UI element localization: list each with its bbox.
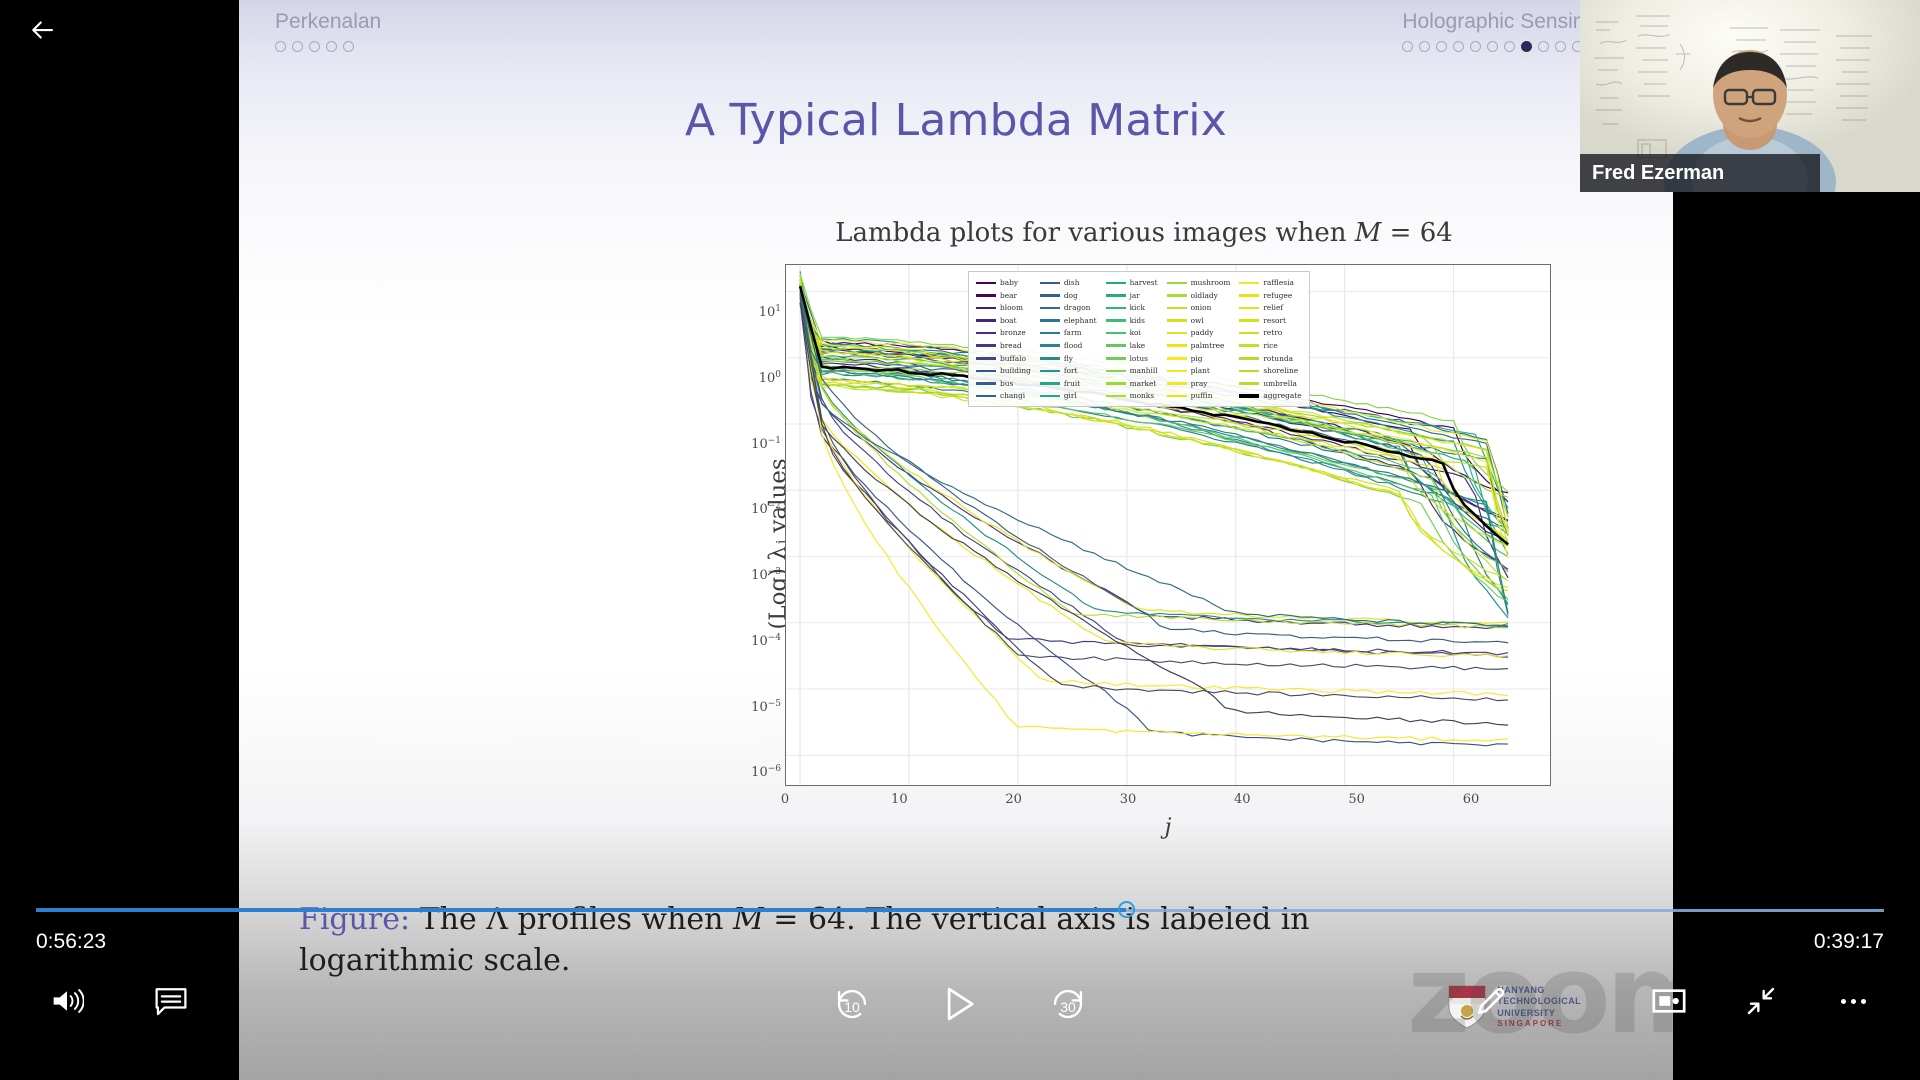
participant-name: Fred Ezerman	[1592, 162, 1724, 185]
legend-item: palmtree	[1167, 340, 1231, 352]
progress-played	[36, 908, 1126, 912]
y-tick-4: 10−3	[751, 567, 781, 583]
chart-title-math: M	[1355, 218, 1382, 248]
closed-captions-icon	[154, 986, 188, 1016]
legend-label: koi	[1130, 329, 1141, 336]
legend-column-3: harvestjarkickkidskoilakelotusmanhillmar…	[1106, 277, 1158, 402]
legend-label: oldlady	[1191, 292, 1218, 299]
legend-swatch	[1239, 319, 1259, 322]
legend-label: fly	[1064, 355, 1073, 362]
legend-label: manhill	[1130, 367, 1158, 374]
progress-scrubber-handle[interactable]	[1118, 901, 1135, 918]
legend-label: lotus	[1130, 355, 1148, 362]
legend-label: resort	[1263, 317, 1286, 324]
legend-swatch	[1106, 332, 1126, 335]
legend-column-2: dishdogdragonelephantfarmfloodflyfortfru…	[1040, 277, 1097, 402]
legend-swatch	[1167, 395, 1187, 398]
legend-label: umbrella	[1263, 380, 1297, 387]
legend-item: market	[1106, 378, 1158, 390]
legend-label: flood	[1064, 342, 1083, 349]
legend-item: fort	[1040, 365, 1097, 377]
legend-label: onion	[1191, 304, 1212, 311]
nav-dot-left-5[interactable]	[343, 41, 354, 52]
x-axis-label: j	[785, 815, 1551, 840]
annotate-button[interactable]	[1468, 978, 1514, 1024]
legend-item: koi	[1106, 327, 1158, 339]
page-title: A Typical Lambda Matrix	[239, 95, 1673, 146]
nav-dot-right-1[interactable]	[1402, 41, 1413, 52]
legend-swatch	[1167, 282, 1187, 285]
legend-item: retro	[1239, 327, 1301, 339]
legend-item: resort	[1239, 315, 1301, 327]
legend-label: lake	[1130, 342, 1146, 349]
legend-swatch	[1106, 370, 1126, 373]
chart-title: Lambda plots for various images when M =…	[729, 218, 1559, 248]
exit-fullscreen-button[interactable]	[1738, 978, 1784, 1024]
legend-label: paddy	[1191, 329, 1214, 336]
running-head-left-title: Perkenalan	[275, 10, 381, 34]
legend-swatch	[1040, 370, 1060, 373]
legend-item: changi	[976, 390, 1031, 402]
legend-label: dragon	[1064, 304, 1091, 311]
legend-swatch	[1239, 344, 1259, 347]
legend-swatch	[1040, 319, 1060, 322]
legend-item: rotunda	[1239, 353, 1301, 365]
legend-swatch	[1106, 319, 1126, 322]
legend-item: monks	[1106, 390, 1158, 402]
legend-swatch	[976, 282, 996, 285]
legend-swatch	[976, 395, 996, 398]
legend-item: baby	[976, 277, 1031, 289]
legend-swatch	[1239, 307, 1259, 310]
remaining-time: 0:39:17	[1814, 930, 1884, 954]
legend-item: pray	[1167, 378, 1231, 390]
y-tick-0: 101	[759, 304, 781, 320]
legend-item: umbrella	[1239, 378, 1301, 390]
legend-item: bread	[976, 340, 1031, 352]
legend-swatch	[1040, 344, 1060, 347]
legend-item: fly	[1040, 353, 1097, 365]
legend-item: aggregate	[1239, 390, 1301, 402]
legend-label: kids	[1130, 317, 1145, 324]
center-controls: 10 30	[823, 975, 1097, 1033]
nav-dot-right-8[interactable]	[1521, 41, 1532, 52]
legend-item: jar	[1106, 290, 1158, 302]
legend-item: puffin	[1167, 390, 1231, 402]
legend-swatch	[1040, 294, 1060, 297]
nav-dot-left-3[interactable]	[309, 41, 320, 52]
legend-swatch	[976, 344, 996, 347]
legend-swatch	[976, 382, 996, 385]
picture-in-picture-icon	[1652, 988, 1686, 1014]
nav-dot-right-2[interactable]	[1419, 41, 1430, 52]
legend-label: rafflesia	[1263, 279, 1294, 286]
legend-swatch	[1239, 394, 1259, 398]
legend-item: fruit	[1040, 378, 1097, 390]
rewind-10-button[interactable]: 10	[823, 975, 881, 1033]
figure-caption: Figure: The Λ profiles when M = 64. The …	[299, 900, 1459, 982]
legend-label: building	[1000, 367, 1031, 374]
legend-swatch	[1167, 294, 1187, 297]
y-tick-3: 10−2	[751, 501, 781, 517]
legend-item: bloom	[976, 302, 1031, 314]
legend-swatch	[1040, 282, 1060, 285]
legend-swatch	[1106, 395, 1126, 398]
legend-label: rice	[1263, 342, 1277, 349]
legend-item: boat	[976, 315, 1031, 327]
plot-area-wrapper: (Log) λⱼ values 10110010−110−210−310−410…	[729, 254, 1559, 834]
forward-seconds-label: 30	[1060, 999, 1076, 1015]
legend-label: pray	[1191, 380, 1208, 387]
legend-item: dish	[1040, 277, 1097, 289]
legend-label: plant	[1191, 367, 1210, 374]
x-tick-3: 30	[1120, 792, 1137, 807]
x-tick-1: 10	[891, 792, 908, 807]
legend-item: dog	[1040, 290, 1097, 302]
legend-item: bus	[976, 378, 1031, 390]
legend-label: girl	[1064, 392, 1077, 399]
legend-swatch	[1167, 332, 1187, 335]
legend-item: harvest	[1106, 277, 1158, 289]
legend-item: mushroom	[1167, 277, 1231, 289]
legend-item: relief	[1239, 302, 1301, 314]
legend-swatch	[1106, 282, 1126, 285]
legend-item: building	[976, 365, 1031, 377]
legend-swatch	[1040, 357, 1060, 360]
legend-swatch	[1167, 319, 1187, 322]
legend-swatch	[976, 357, 996, 360]
back-button[interactable]	[20, 8, 64, 52]
legend-label: monks	[1130, 392, 1155, 399]
legend-label: changi	[1000, 392, 1025, 399]
legend-item: manhill	[1106, 365, 1158, 377]
legend-swatch	[1106, 344, 1126, 347]
legend-item: paddy	[1167, 327, 1231, 339]
running-head-left-dots	[275, 41, 381, 52]
legend-item: kids	[1106, 315, 1158, 327]
x-axis-ticks: 0102030405060	[785, 792, 1551, 812]
legend-swatch	[1167, 307, 1187, 310]
chart-legend: babybearbloomboatbronzebreadbuffalobuild…	[968, 271, 1310, 407]
rewind-seconds-label: 10	[844, 999, 860, 1015]
legend-swatch	[1239, 294, 1259, 297]
legend-swatch	[1167, 357, 1187, 360]
legend-label: bear	[1000, 292, 1017, 299]
legend-label: harvest	[1130, 279, 1158, 286]
legend-swatch	[1167, 370, 1187, 373]
nav-dot-left-4[interactable]	[326, 41, 337, 52]
legend-item: pig	[1167, 353, 1231, 365]
legend-swatch	[1239, 370, 1259, 373]
left-controls	[44, 978, 194, 1024]
legend-label: refugee	[1263, 292, 1292, 299]
legend-item: owl	[1167, 315, 1231, 327]
y-tick-6: 10−5	[751, 699, 781, 715]
legend-swatch	[976, 294, 996, 297]
captions-button[interactable]	[148, 978, 194, 1024]
legend-label: fruit	[1064, 380, 1080, 387]
legend-label: relief	[1263, 304, 1283, 311]
legend-swatch	[1239, 282, 1259, 285]
legend-label: owl	[1191, 317, 1204, 324]
legend-swatch	[1106, 357, 1126, 360]
nav-dot-right-4[interactable]	[1453, 41, 1464, 52]
x-tick-2: 20	[1005, 792, 1022, 807]
legend-swatch	[1106, 294, 1126, 297]
running-head-left: Perkenalan	[275, 10, 381, 52]
legend-swatch	[1167, 382, 1187, 385]
legend-item: elephant	[1040, 315, 1097, 327]
legend-item: plant	[1167, 365, 1231, 377]
legend-item: buffalo	[976, 353, 1031, 365]
legend-item: rice	[1239, 340, 1301, 352]
participant-name-badge: Fred Ezerman	[1580, 154, 1820, 192]
x-tick-5: 50	[1348, 792, 1365, 807]
slide-stage: Perkenalan Holographic Sensing on I A Ty…	[239, 0, 1673, 1080]
more-options-icon	[1841, 999, 1866, 1004]
legend-label: elephant	[1064, 317, 1097, 324]
picture-in-picture-button[interactable]	[1646, 978, 1692, 1024]
y-tick-2: 10−1	[751, 436, 781, 452]
legend-label: bread	[1000, 342, 1022, 349]
legend-item: shoreline	[1239, 365, 1301, 377]
pencil-icon	[1474, 984, 1508, 1018]
volume-high-icon	[50, 986, 84, 1016]
legend-label: pig	[1191, 355, 1203, 362]
legend-item: onion	[1167, 302, 1231, 314]
legend-swatch	[1040, 307, 1060, 310]
legend-column-1: babybearbloomboatbronzebreadbuffalobuild…	[976, 277, 1031, 402]
legend-item: lake	[1106, 340, 1158, 352]
legend-label: kick	[1130, 304, 1145, 311]
nav-dot-right-6[interactable]	[1487, 41, 1498, 52]
legend-item: refugee	[1239, 290, 1301, 302]
legend-item: bronze	[976, 327, 1031, 339]
legend-item: girl	[1040, 390, 1097, 402]
legend-swatch	[1106, 307, 1126, 310]
legend-swatch	[1167, 344, 1187, 347]
legend-swatch	[976, 307, 996, 310]
nav-dot-left-2[interactable]	[292, 41, 303, 52]
legend-label: buffalo	[1000, 355, 1026, 362]
legend-item: bear	[976, 290, 1031, 302]
nav-dot-right-10[interactable]	[1555, 41, 1566, 52]
more-options-button[interactable]	[1830, 978, 1876, 1024]
legend-swatch	[1239, 382, 1259, 385]
legend-label: retro	[1263, 329, 1282, 336]
legend-swatch	[1239, 357, 1259, 360]
y-tick-7: 10−6	[751, 764, 781, 780]
legend-label: bloom	[1000, 304, 1023, 311]
progress-bar[interactable]	[0, 908, 1920, 912]
legend-label: baby	[1000, 279, 1018, 286]
x-tick-0: 0	[781, 792, 789, 807]
legend-label: jar	[1130, 292, 1140, 299]
y-axis-ticks: 10110010−110−210−310−410−510−6	[735, 270, 781, 786]
participant-video-tile[interactable]: Fred Ezerman	[1580, 0, 1920, 192]
legend-item: oldlady	[1167, 290, 1231, 302]
legend-item: rafflesia	[1239, 277, 1301, 289]
legend-item: flood	[1040, 340, 1097, 352]
legend-item: dragon	[1040, 302, 1097, 314]
legend-label: market	[1130, 380, 1157, 387]
legend-label: rotunda	[1263, 355, 1293, 362]
chart-title-text: Lambda plots for various images when	[835, 218, 1355, 248]
play-button[interactable]	[931, 975, 989, 1033]
nav-dot-left-1[interactable]	[275, 41, 286, 52]
nav-dot-right-3[interactable]	[1436, 41, 1447, 52]
y-tick-5: 10−4	[751, 633, 781, 649]
legend-label: boat	[1000, 317, 1017, 324]
legend-label: shoreline	[1263, 367, 1298, 374]
nav-dot-right-7[interactable]	[1504, 41, 1515, 52]
nav-dot-right-9[interactable]	[1538, 41, 1549, 52]
lambda-plot-figure: Lambda plots for various images when M =…	[729, 218, 1559, 858]
legend-swatch	[976, 319, 996, 322]
y-tick-1: 100	[759, 370, 781, 386]
x-tick-6: 60	[1463, 792, 1480, 807]
legend-item: kick	[1106, 302, 1158, 314]
legend-swatch	[976, 370, 996, 373]
zoom-recording-player: Perkenalan Holographic Sensing on I A Ty…	[0, 0, 1920, 1080]
arrow-left-icon	[27, 15, 57, 45]
legend-label: aggregate	[1263, 392, 1301, 399]
legend-item: farm	[1040, 327, 1097, 339]
legend-label: farm	[1064, 329, 1082, 336]
forward-30-button[interactable]: 30	[1039, 975, 1097, 1033]
exit-fullscreen-icon	[1745, 985, 1777, 1017]
play-icon	[941, 985, 979, 1023]
x-tick-4: 40	[1234, 792, 1251, 807]
legend-swatch	[1040, 395, 1060, 398]
elapsed-time: 0:56:23	[36, 930, 106, 954]
legend-label: dish	[1064, 279, 1080, 286]
legend-label: fort	[1064, 367, 1078, 374]
legend-label: dog	[1064, 292, 1078, 299]
legend-label: palmtree	[1191, 342, 1225, 349]
volume-button[interactable]	[44, 978, 90, 1024]
legend-swatch	[976, 332, 996, 335]
legend-column-4: mushroomoldladyonionowlpaddypalmtreepigp…	[1167, 277, 1231, 402]
legend-item: lotus	[1106, 353, 1158, 365]
right-controls	[1468, 978, 1876, 1024]
legend-label: bus	[1000, 380, 1013, 387]
legend-swatch	[1106, 382, 1126, 385]
legend-label: puffin	[1191, 392, 1213, 399]
legend-label: bronze	[1000, 329, 1026, 336]
legend-swatch	[1040, 332, 1060, 335]
plot-axes: babybearbloomboatbronzebreadbuffalobuild…	[785, 264, 1551, 786]
legend-column-5: rafflesiarefugeereliefresortretroricerot…	[1239, 277, 1301, 402]
legend-label: mushroom	[1191, 279, 1231, 286]
legend-swatch	[1040, 382, 1060, 385]
legend-swatch	[1239, 332, 1259, 335]
nav-dot-right-5[interactable]	[1470, 41, 1481, 52]
